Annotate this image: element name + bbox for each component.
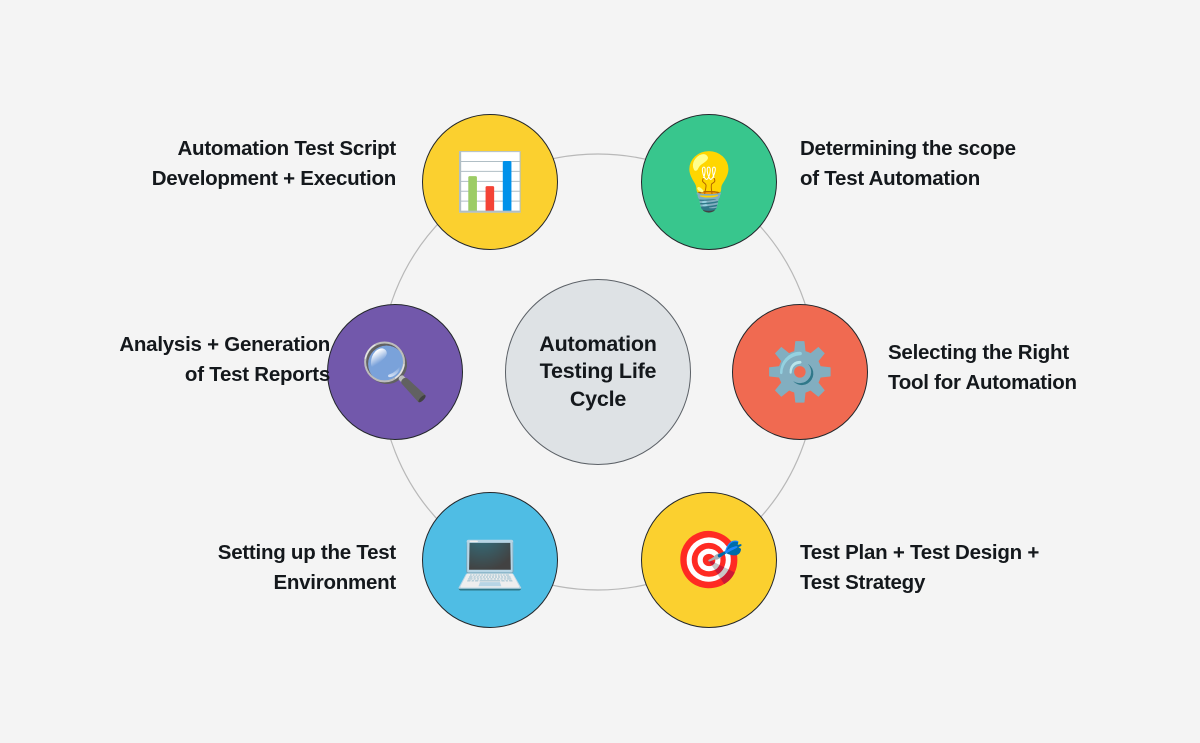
cycle-label-selecting-tool: Selecting the Right Tool for Automation [888,338,1136,397]
cycle-node-test-plan-design-strategy[interactable]: 🎯 [641,492,777,628]
lightbulb-icon: 💡 [674,154,744,210]
cycle-node-determining-scope[interactable]: 💡 [641,114,777,250]
cycle-node-analysis-reports[interactable]: 🔍 [327,304,463,440]
bar-chart-icon: 📊 [455,154,525,210]
cycle-node-automation-test-script[interactable]: 📊 [422,114,558,250]
automation-testing-life-cycle-diagram: Automation Testing Life Cycle 📊 💡 ⚙️ 🎯 💻… [0,0,1200,743]
cycle-label-determining-scope: Determining the scope of Test Automation [800,134,1100,193]
target-dart-icon: 🎯 [674,532,744,588]
cycle-node-test-environment[interactable]: 💻 [422,492,558,628]
cycle-label-analysis-reports: Analysis + Generation of Test Reports [68,330,330,389]
cycle-node-selecting-tool[interactable]: ⚙️ [732,304,868,440]
center-hub: Automation Testing Life Cycle [505,279,691,465]
center-hub-label: Automation Testing Life Cycle [539,331,656,414]
cycle-label-automation-test-script: Automation Test Script Development + Exe… [96,134,396,193]
cycle-label-test-environment: Setting up the Test Environment [96,538,396,597]
laptop-icon: 💻 [455,532,525,588]
magnifying-glass-icon: 🔍 [360,344,430,400]
gear-icon: ⚙️ [765,344,835,400]
cycle-label-test-plan-design-strategy: Test Plan + Test Design + Test Strategy [800,538,1100,597]
